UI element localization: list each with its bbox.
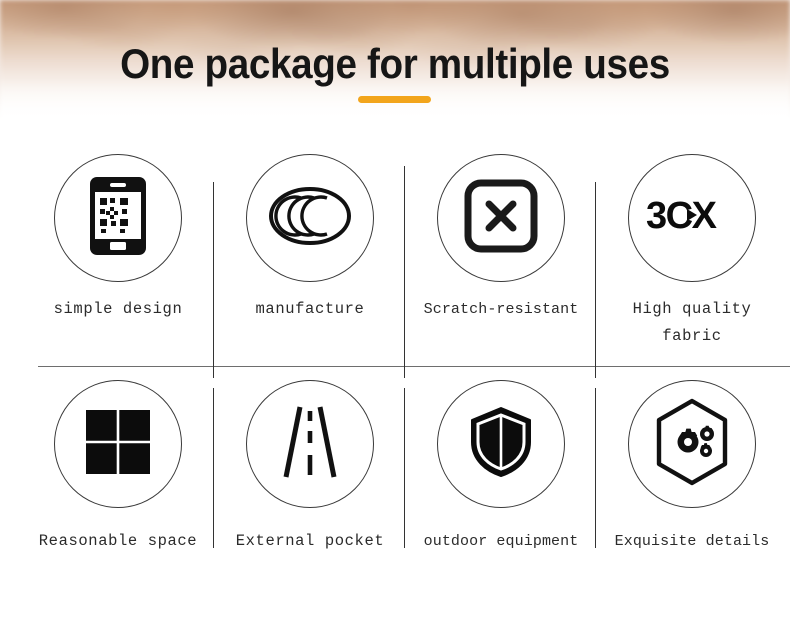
3cx-logo-icon: 3CX	[645, 194, 739, 243]
no-scratch-x-square-icon	[464, 179, 538, 258]
feature-icon-circle	[54, 154, 182, 282]
hexagon-gears-icon	[652, 398, 732, 491]
feature-item-manufacture: manufacture	[215, 154, 405, 323]
four-quadrant-grid-icon	[86, 410, 150, 479]
feature-item-simple-design: simple design	[23, 154, 213, 323]
svg-text:3CX: 3CX	[646, 195, 718, 237]
feature-grid: simple design manufacture	[0, 132, 790, 627]
feature-label: manufacture	[215, 296, 405, 323]
feature-icon-circle	[246, 154, 374, 282]
feature-icon-circle	[437, 380, 565, 508]
grid-vertical-divider-4	[213, 388, 214, 548]
feature-banner: One package for multiple uses	[0, 0, 790, 627]
grid-horizontal-divider	[38, 366, 790, 367]
feature-label: External pocket	[215, 528, 405, 555]
page-title: One package for multiple uses	[32, 40, 759, 88]
feature-icon-circle	[246, 380, 374, 508]
feature-item-exquisite-details: Exquisite details	[597, 380, 787, 555]
feature-icon-circle: 3CX	[628, 154, 756, 282]
feature-icon-circle	[437, 154, 565, 282]
feature-label: High quality fabric	[597, 296, 787, 350]
feature-item-scratch-resistant: Scratch-resistant	[406, 154, 596, 323]
feature-item-high-quality-fabric: 3CX High quality fabric	[597, 154, 787, 350]
feature-item-external-pocket: External pocket	[215, 380, 405, 555]
smartphone-qrcode-icon	[89, 176, 147, 261]
feature-label: Exquisite details	[597, 528, 787, 555]
feature-label: simple design	[23, 296, 213, 323]
title-accent-underline	[358, 96, 431, 103]
feature-label: Scratch-resistant	[406, 296, 596, 323]
ccc-certification-icon	[267, 185, 353, 252]
banner-header: One package for multiple uses	[0, 0, 790, 132]
feature-icon-circle	[628, 380, 756, 508]
feature-label: outdoor equipment	[406, 528, 596, 555]
road-lane-icon	[278, 405, 342, 484]
feature-icon-circle	[54, 380, 182, 508]
feature-label: Reasonable space	[23, 528, 213, 555]
shield-icon	[469, 406, 533, 483]
grid-vertical-divider-1	[213, 182, 214, 378]
feature-item-outdoor-equipment: outdoor equipment	[406, 380, 596, 555]
feature-item-reasonable-space: Reasonable space	[23, 380, 213, 555]
